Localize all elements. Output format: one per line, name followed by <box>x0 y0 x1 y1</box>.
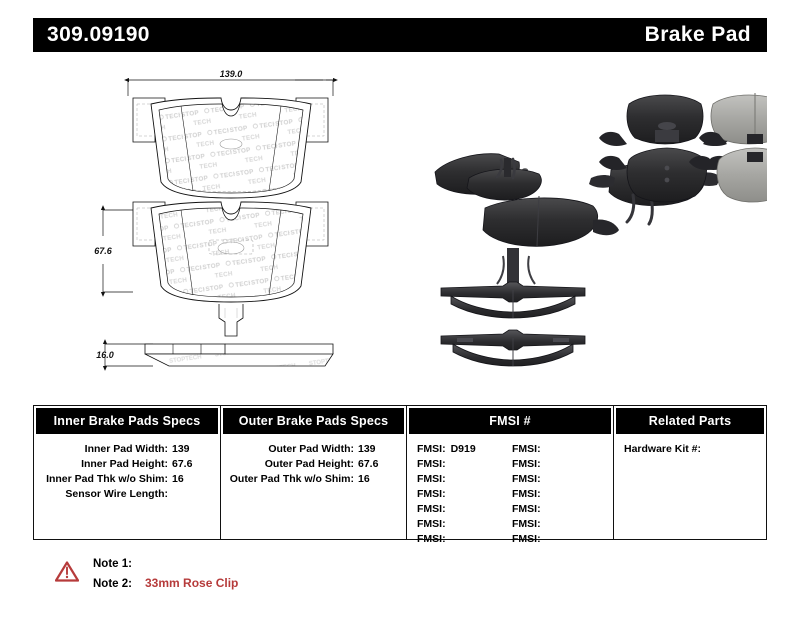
note-2-value: 33mm Rose Clip <box>145 574 238 593</box>
inner-specs-body: Inner Pad Width: 139 Inner Pad Height: 6… <box>34 436 220 502</box>
outer-specs-column: Outer Brake Pads Specs Outer Pad Width: … <box>221 406 407 539</box>
fmsi-header: FMSI # <box>409 408 611 434</box>
fmsi-entry: FMSI: <box>512 532 607 547</box>
product-type: Brake Pad <box>645 23 751 47</box>
dimension-width <box>128 80 333 96</box>
fmsi-label: FMSI: <box>512 517 541 532</box>
table-row: Inner Pad Height: 67.6 <box>34 457 220 472</box>
spec-label: Inner Pad Width: <box>42 442 168 457</box>
top-pad-outline-view <box>133 98 328 198</box>
note-1-label: Note 1: <box>93 555 145 574</box>
photo-edge-pair <box>441 248 585 366</box>
spec-value: 139 <box>168 442 212 457</box>
fmsi-entry: FMSI: <box>512 472 607 487</box>
fmsi-entry: FMSI: <box>417 532 512 547</box>
fmsi-column: FMSI # FMSI: D919 FMSI: FMSI: FMSI: <box>407 406 614 539</box>
inner-specs-column: Inner Brake Pads Specs Inner Pad Width: … <box>34 406 221 539</box>
table-row: Inner Pad Thk w/o Shim: 16 <box>34 472 220 487</box>
fmsi-entry: FMSI: <box>512 517 607 532</box>
table-row: Hardware Kit #: <box>614 436 766 457</box>
fmsi-label: FMSI: <box>512 442 541 457</box>
related-parts-column: Related Parts Hardware Kit #: <box>614 406 766 539</box>
specs-table: Inner Brake Pads Specs Inner Pad Width: … <box>33 405 767 540</box>
note-2-row: Note 2: 33mm Rose Clip <box>93 574 238 594</box>
fmsi-grid: FMSI: D919 FMSI: FMSI: FMSI: FMSI: <box>407 436 613 547</box>
fmsi-entry: FMSI: D919 <box>417 442 512 457</box>
fmsi-label: FMSI: <box>512 487 541 502</box>
fmsi-label: FMSI: <box>512 472 541 487</box>
outer-specs-header: Outer Brake Pads Specs <box>223 408 404 434</box>
fmsi-label: FMSI: <box>512 532 541 547</box>
fmsi-entry: FMSI: <box>417 487 512 502</box>
spec-label: Outer Pad Height: <box>229 457 354 472</box>
fmsi-label: FMSI: <box>417 442 446 457</box>
fmsi-entry: FMSI: <box>512 442 607 457</box>
spec-value: 16 <box>168 472 212 487</box>
spec-value: 16 <box>354 472 398 487</box>
note-1-row: Note 1: <box>93 555 238 574</box>
fmsi-entry: FMSI: <box>512 487 607 502</box>
spec-sheet-page: 309.09190 Brake Pad STOP TECH TECH STOPT… <box>0 0 800 619</box>
dimension-width-label: 139.0 <box>220 69 243 79</box>
outer-specs-body: Outer Pad Width: 139 Outer Pad Height: 6… <box>221 436 406 487</box>
fmsi-entry: FMSI: <box>417 502 512 517</box>
related-parts-header: Related Parts <box>616 408 764 434</box>
warning-triangle-icon <box>55 561 79 582</box>
dimension-thickness-label: 16.0 <box>96 350 114 360</box>
spec-label: Inner Pad Thk w/o Shim: <box>42 472 168 487</box>
part-number: 309.09190 <box>47 23 150 47</box>
spec-value: 67.6 <box>168 457 212 472</box>
fmsi-label: FMSI: <box>417 532 446 547</box>
fmsi-entry: FMSI: <box>417 457 512 472</box>
fmsi-label: FMSI: <box>417 457 446 472</box>
fmsi-entry: FMSI: <box>417 517 512 532</box>
fmsi-label: FMSI: <box>417 517 446 532</box>
fmsi-label: FMSI: <box>417 487 446 502</box>
fmsi-label: FMSI: <box>417 502 446 517</box>
spec-value: 67.6 <box>354 457 398 472</box>
fmsi-label: FMSI: <box>512 502 541 517</box>
dimension-height-label: 67.6 <box>94 246 113 256</box>
note-lines: Note 1: Note 2: 33mm Rose Clip <box>93 555 238 594</box>
fmsi-label: FMSI: <box>417 472 446 487</box>
edge-thickness-view <box>145 344 333 366</box>
hardware-kit-label: Hardware Kit #: <box>624 443 701 455</box>
note-2-label: Note 2: <box>93 575 145 594</box>
table-row: Outer Pad Width: 139 <box>221 442 406 457</box>
table-row: Outer Pad Height: 67.6 <box>221 457 406 472</box>
spec-value: 139 <box>354 442 398 457</box>
bottom-pad-outline-view <box>133 202 328 336</box>
table-row: Inner Pad Width: 139 <box>34 442 220 457</box>
fmsi-entry: FMSI: <box>512 457 607 472</box>
fmsi-entry: FMSI: <box>512 502 607 517</box>
table-row: Outer Pad Thk w/o Shim: 16 <box>221 472 406 487</box>
fmsi-entry: FMSI: <box>417 472 512 487</box>
notes-section: Note 1: Note 2: 33mm Rose Clip <box>55 555 555 600</box>
spec-label: Sensor Wire Length: <box>42 487 168 502</box>
fmsi-label: FMSI: <box>512 457 541 472</box>
spec-label: Outer Pad Thk w/o Shim: <box>229 472 354 487</box>
spec-label: Outer Pad Width: <box>229 442 354 457</box>
drawing-area: STOP TECH TECH STOPTECH <box>33 60 767 390</box>
inner-specs-header: Inner Brake Pads Specs <box>36 408 218 434</box>
fmsi-value: D919 <box>451 442 476 457</box>
header-banner: 309.09190 Brake Pad <box>33 18 767 52</box>
table-row: Sensor Wire Length: <box>34 487 220 502</box>
spec-label: Inner Pad Height: <box>42 457 168 472</box>
